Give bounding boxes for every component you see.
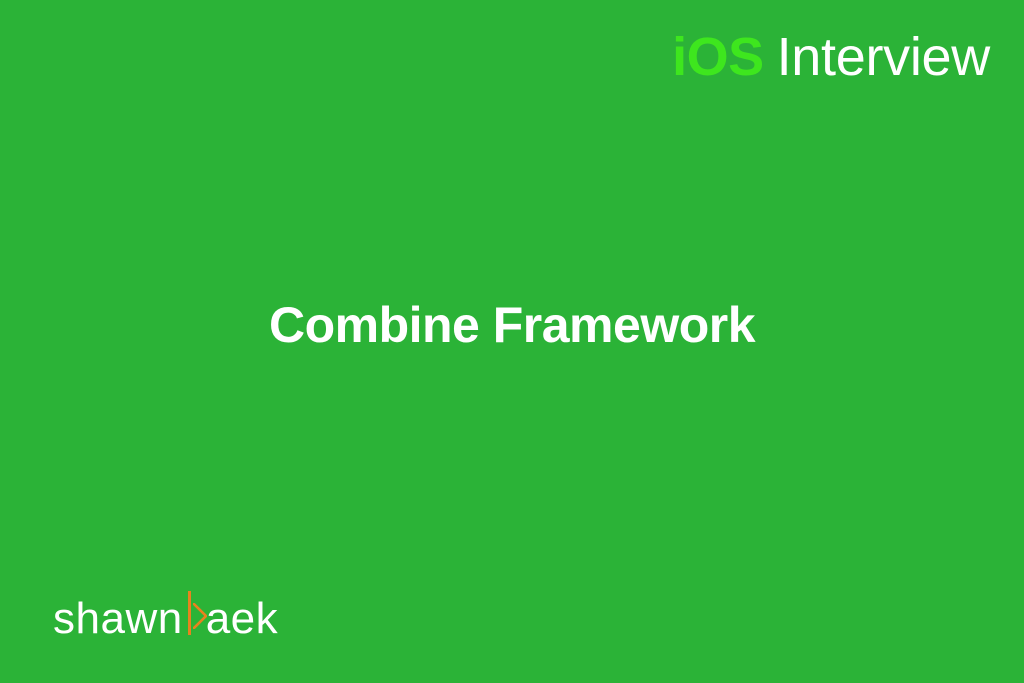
brand-mark-triangle [193, 603, 207, 629]
brand-logo: shawn aek [53, 597, 278, 641]
presentation-slide: iOS Interview Combine Framework shawn ae… [0, 0, 1024, 683]
slide-header: iOS Interview [672, 30, 990, 84]
header-ios-label: iOS [672, 30, 764, 84]
brand-mark-stem [188, 591, 191, 635]
header-interview-label: Interview [777, 30, 990, 84]
play-triangle-icon [185, 597, 205, 641]
page-title: Combine Framework [0, 297, 1024, 355]
brand-logo-text-after: aek [206, 597, 278, 641]
brand-logo-text-before: shawn [53, 597, 183, 641]
